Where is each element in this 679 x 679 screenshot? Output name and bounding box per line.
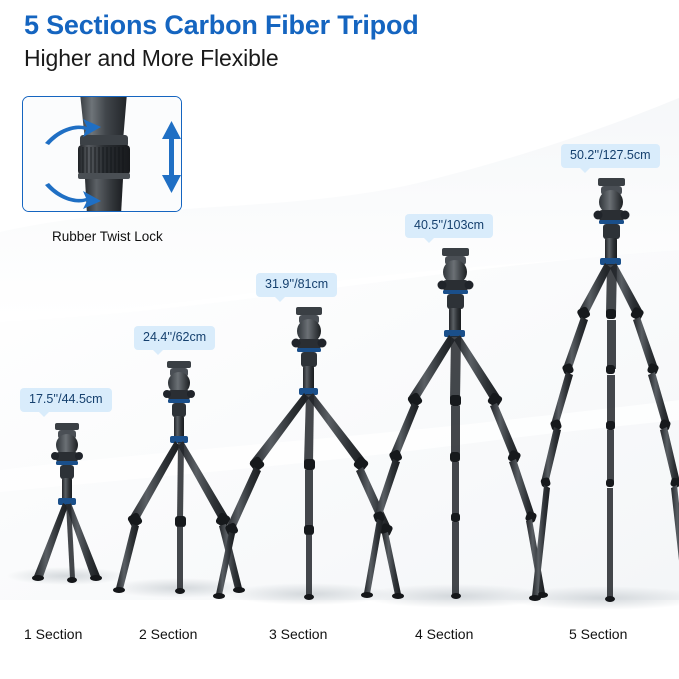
ball-head xyxy=(51,423,83,479)
section-label-1: 1 Section xyxy=(24,626,82,642)
section-label-4: 4 Section xyxy=(415,626,473,642)
callout-height-2: 24.4''/62cm xyxy=(134,326,215,350)
tripod-1-section xyxy=(32,423,102,583)
tripod-5-section xyxy=(529,178,679,602)
tripod-lineup xyxy=(0,0,679,679)
ball-head xyxy=(438,248,474,309)
callout-height-3: 31.9''/81cm xyxy=(256,273,337,297)
section-label-2: 2 Section xyxy=(139,626,197,642)
callout-height-1: 17.5''/44.5cm xyxy=(20,388,112,412)
ball-head xyxy=(594,178,630,239)
ball-head xyxy=(292,307,327,367)
section-label-5: 5 Section xyxy=(569,626,627,642)
callout-height-4: 40.5''/103cm xyxy=(405,214,493,238)
ball-head xyxy=(163,361,195,417)
section-label-3: 3 Section xyxy=(269,626,327,642)
callout-height-5: 50.2''/127.5cm xyxy=(561,144,660,168)
